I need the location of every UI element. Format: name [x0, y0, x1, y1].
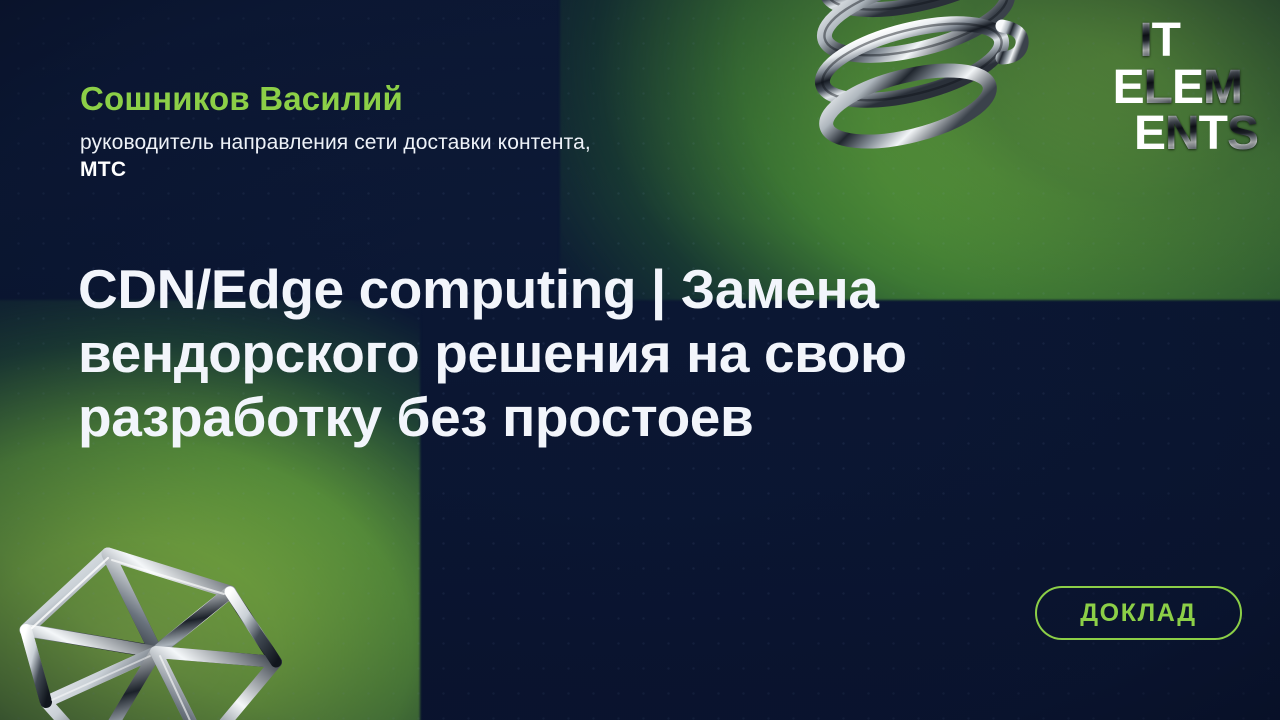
logo-letter-t: T: [1152, 18, 1180, 64]
logo-letter-i: I: [1139, 18, 1151, 64]
logo-letter-e1: E: [1113, 65, 1144, 111]
logo-letter-m: M: [1203, 65, 1242, 111]
speaker-role: руководитель направления сети доставки к…: [80, 129, 960, 156]
talk-type-badge: ДОКЛАД: [1035, 586, 1242, 640]
speaker-name: Сошников Василий: [80, 80, 960, 119]
logo-letter-s: S: [1227, 111, 1258, 157]
speaker-info: Сошников Василий руководитель направлени…: [80, 80, 960, 184]
logo-letter-n: N: [1165, 111, 1199, 157]
speaker-company: МТС: [80, 156, 960, 183]
logo-letter-l: L: [1144, 65, 1172, 111]
talk-title: CDN/Edge computing | Замена вендорского …: [78, 258, 1118, 449]
logo-row-2: E L E M: [1113, 65, 1242, 111]
logo-letter-e3: E: [1134, 111, 1165, 157]
logo-row-3: E N T S: [1134, 111, 1258, 157]
it-elements-logo: I T E L E M E N T S: [1058, 18, 1258, 178]
logo-letter-t2: T: [1199, 111, 1227, 157]
logo-letter-e2: E: [1172, 65, 1203, 111]
presentation-slide: I T E L E M E N T S Сошников Василий рук…: [0, 0, 1280, 720]
talk-type-badge-label: ДОКЛАД: [1080, 599, 1196, 628]
logo-row-1: I T: [1139, 18, 1180, 64]
chrome-polyhedron-icon: [8, 534, 308, 720]
